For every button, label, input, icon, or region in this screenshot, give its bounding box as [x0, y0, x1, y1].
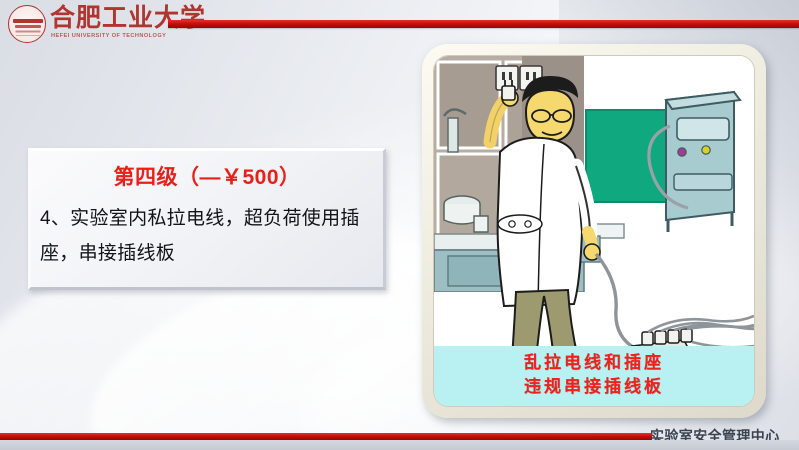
penalty-level-title: 第四级（—￥500）	[31, 165, 383, 191]
header-red-rule	[168, 20, 799, 28]
footer-red-rule	[0, 433, 652, 440]
illustration-canvas: 乱拉电线和插座 违规串接插线板	[433, 55, 755, 407]
slide-header: 合肥工业大学 HEFEI UNIVERSITY OF TECHNOLOGY	[0, 0, 799, 50]
violation-description: 4、实验室内私拉电线，超负荷使用插座，串接插线板	[40, 201, 380, 271]
illustration-caption-line-2: 违规串接插线板	[434, 376, 754, 398]
university-emblem-icon	[8, 5, 46, 43]
content-text-panel: 第四级（—￥500） 4、实验室内私拉电线，超负荷使用插座，串接插线板	[28, 148, 386, 290]
university-logo: 合肥工业大学 HEFEI UNIVERSITY OF TECHNOLOGY	[6, 2, 174, 46]
illustration-caption-line-1: 乱拉电线和插座	[434, 352, 754, 374]
footer-band	[0, 440, 799, 450]
illustration-frame: 乱拉电线和插座 违规串接插线板	[422, 44, 766, 418]
university-name-cn: 合肥工业大学	[50, 3, 174, 33]
university-name-en: HEFEI UNIVERSITY OF TECHNOLOGY	[51, 32, 181, 40]
slide: 合肥工业大学 HEFEI UNIVERSITY OF TECHNOLOGY 第四…	[0, 0, 799, 450]
